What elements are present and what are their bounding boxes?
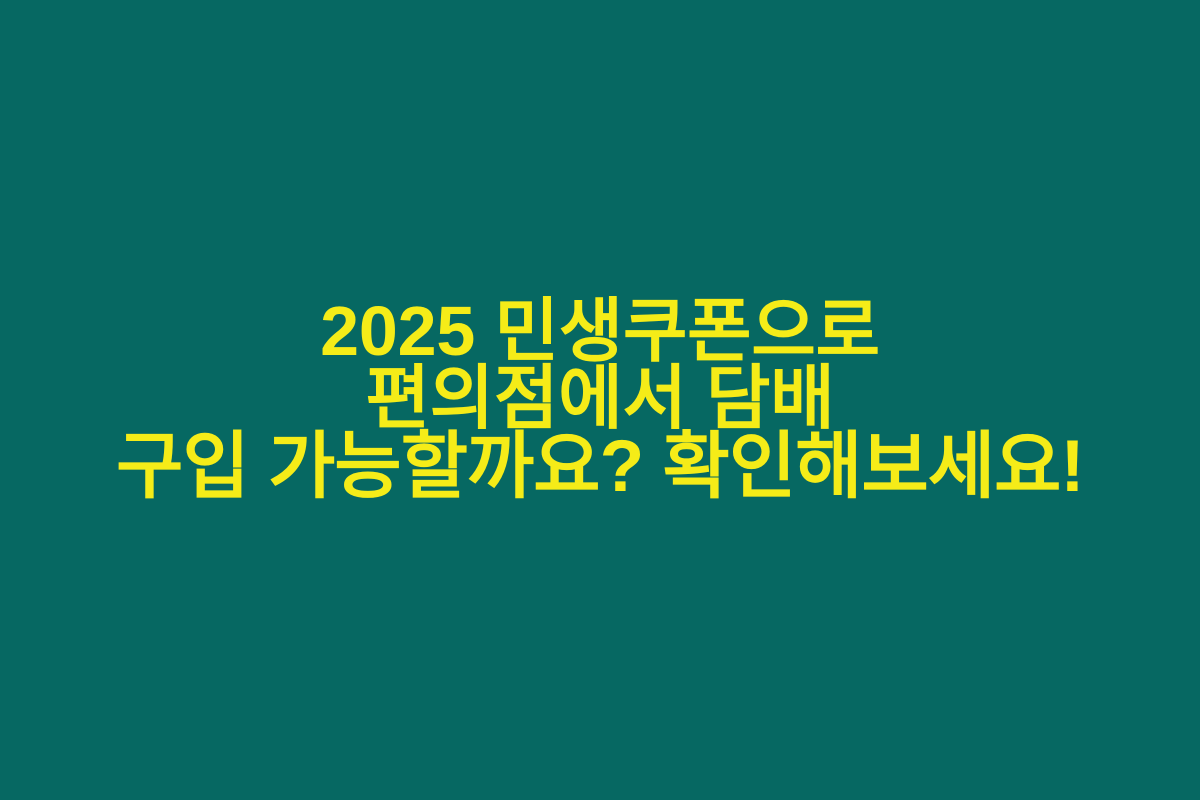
headline-line-1: 2025 민생쿠폰으로: [0, 298, 1200, 365]
page-title: 2025 민생쿠폰으로 편의점에서 담배 구입 가능할까요? 확인해보세요!: [0, 298, 1200, 502]
headline-line-2: 편의점에서 담배: [0, 365, 1200, 432]
title-card: 2025 민생쿠폰으로 편의점에서 담배 구입 가능할까요? 확인해보세요!: [0, 0, 1200, 800]
headline-line-3: 구입 가능할까요? 확인해보세요!: [0, 432, 1200, 502]
